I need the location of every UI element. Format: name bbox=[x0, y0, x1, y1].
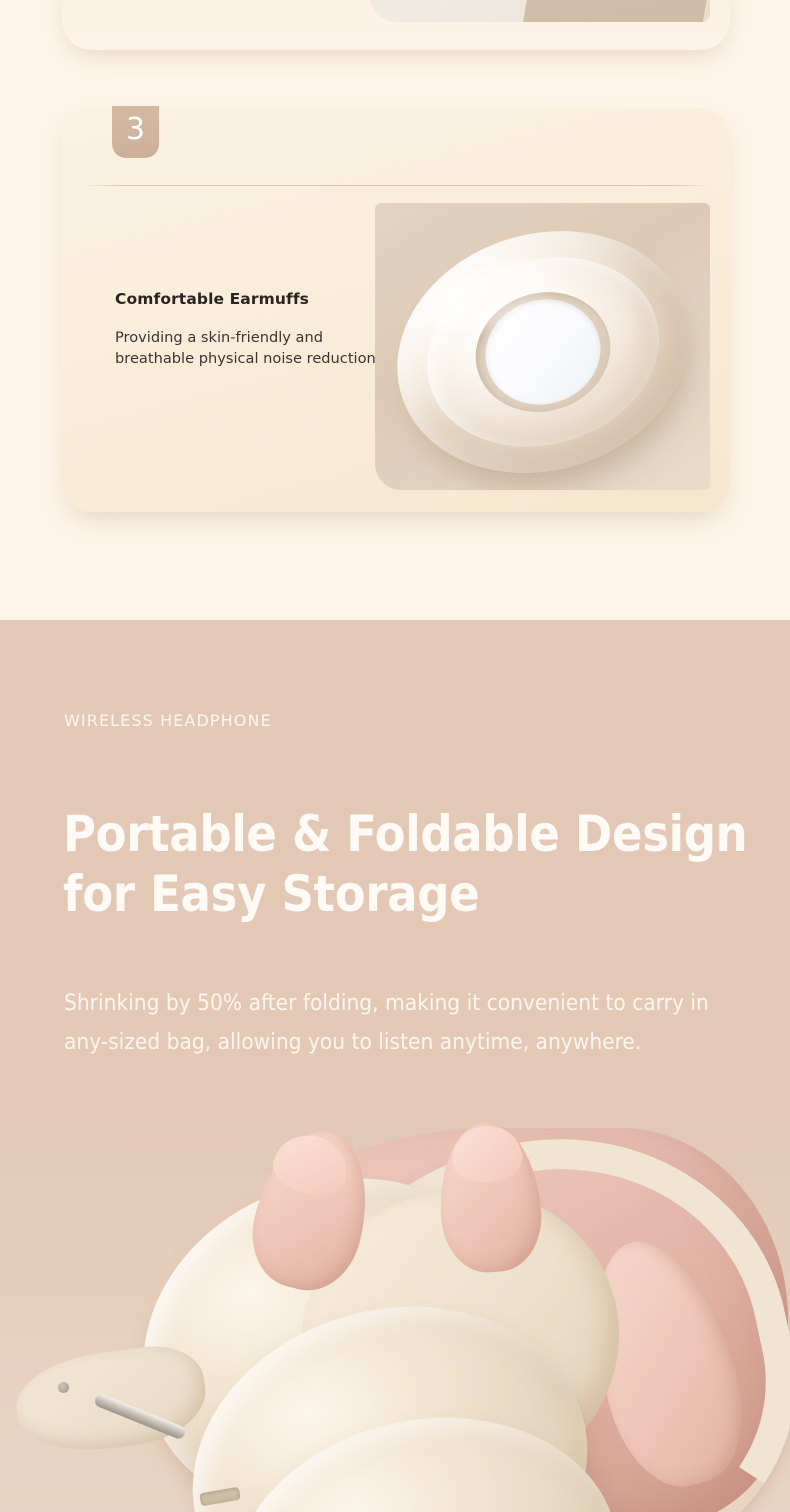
hero-subtitle: Shrinking by 50% after folding, making i… bbox=[64, 984, 714, 1061]
feature-card-3[interactable]: 3 Comfortable Earmuffs Providing a skin-… bbox=[62, 108, 730, 512]
earmuff-illustration bbox=[375, 203, 710, 490]
previous-card-photo bbox=[370, 0, 710, 22]
features-section: 3 Comfortable Earmuffs Providing a skin-… bbox=[0, 0, 790, 620]
photo-shape-dark bbox=[504, 0, 710, 22]
step-number-badge: 3 bbox=[112, 106, 159, 158]
hero-eyebrow: WIRELESS HEADPHONE bbox=[64, 713, 272, 729]
earmuff-product-photo bbox=[375, 203, 710, 490]
card-divider bbox=[84, 185, 710, 186]
hero-product-photo bbox=[0, 1120, 790, 1512]
feature-text-block: Comfortable Earmuffs Providing a skin-fr… bbox=[115, 290, 385, 369]
feature-description: Providing a skin-friendly and breathable… bbox=[115, 327, 385, 369]
feature-title: Comfortable Earmuffs bbox=[115, 290, 385, 309]
hero-section: WIRELESS HEADPHONE Portable & Foldable D… bbox=[0, 620, 790, 1512]
previous-feature-card bbox=[62, 0, 730, 50]
headphone-screw bbox=[58, 1382, 69, 1393]
hero-title: Portable & Foldable Design for Easy Stor… bbox=[63, 805, 753, 924]
